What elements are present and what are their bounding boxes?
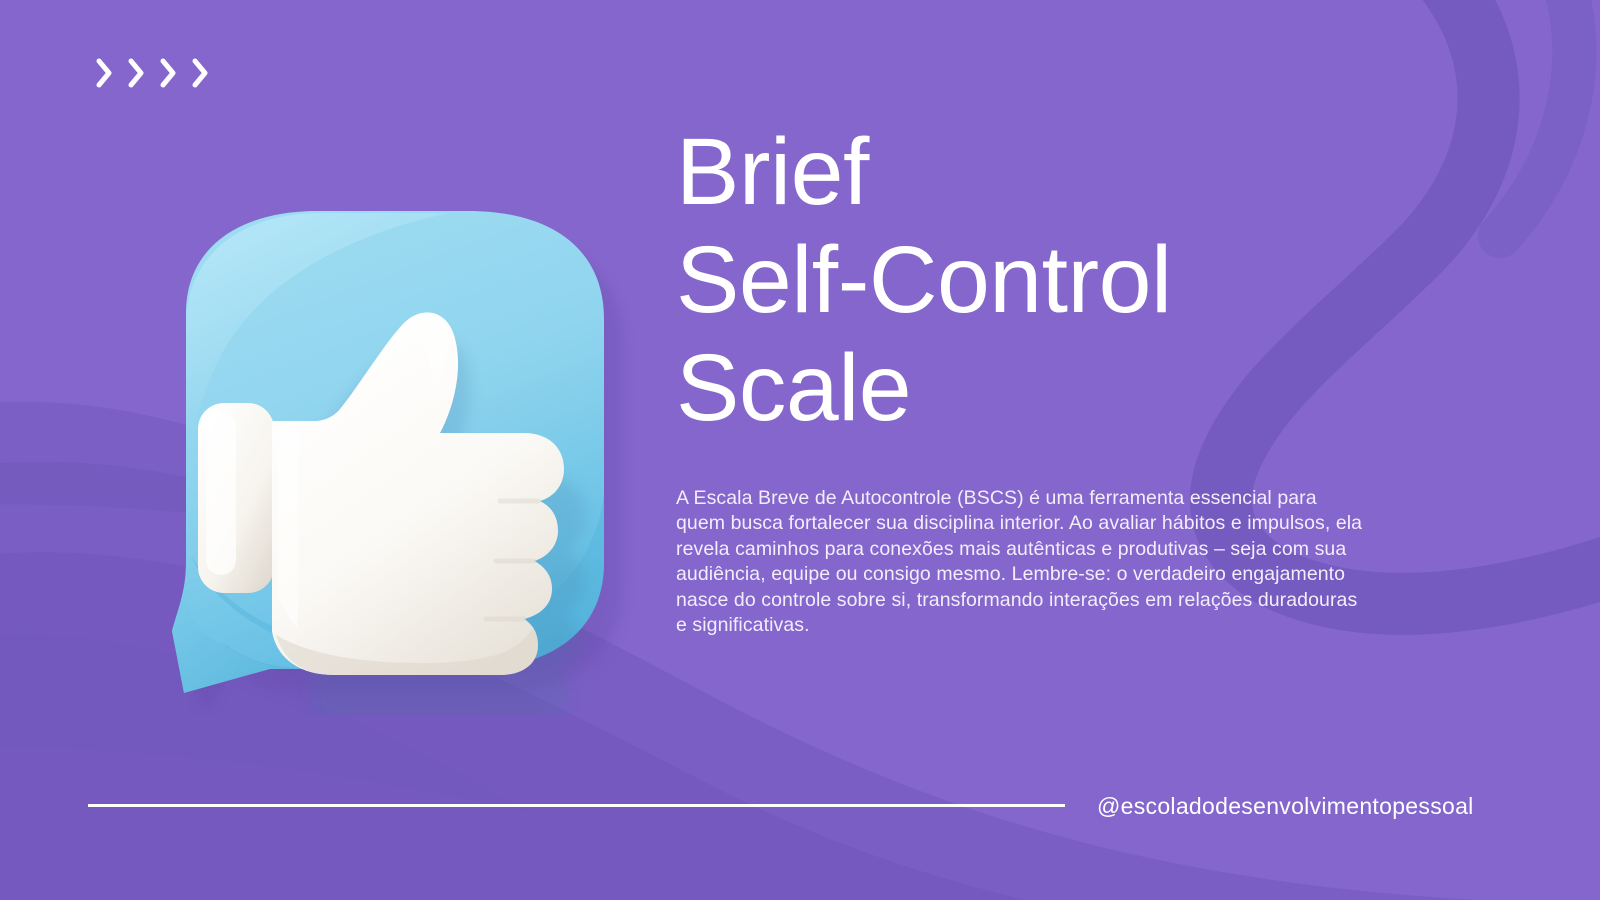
social-handle[interactable]: @escoladodesenvolvimentopessoal [1097, 791, 1474, 821]
slide-canvas: Brief Self-Control Scale A Escala Breve … [0, 0, 1600, 900]
wave-ribbon-top-right-2 [1500, 0, 1574, 236]
chevron-right-icon [160, 58, 177, 88]
footer-divider [88, 804, 1065, 807]
hand-cuff-highlight [206, 411, 236, 575]
chevron-right-icon [96, 58, 113, 88]
speech-bubble-thumbs-up-icon [120, 195, 650, 715]
text-column: Brief Self-Control Scale A Escala Breve … [676, 118, 1366, 638]
body-paragraph: A Escala Breve de Autocontrole (BSCS) é … [676, 442, 1366, 638]
chevron-row [96, 58, 209, 88]
chevron-right-icon [128, 58, 145, 88]
hand-left-edge-highlight [278, 431, 298, 629]
page-title: Brief Self-Control Scale [676, 118, 1366, 442]
chevron-right-icon [192, 58, 209, 88]
